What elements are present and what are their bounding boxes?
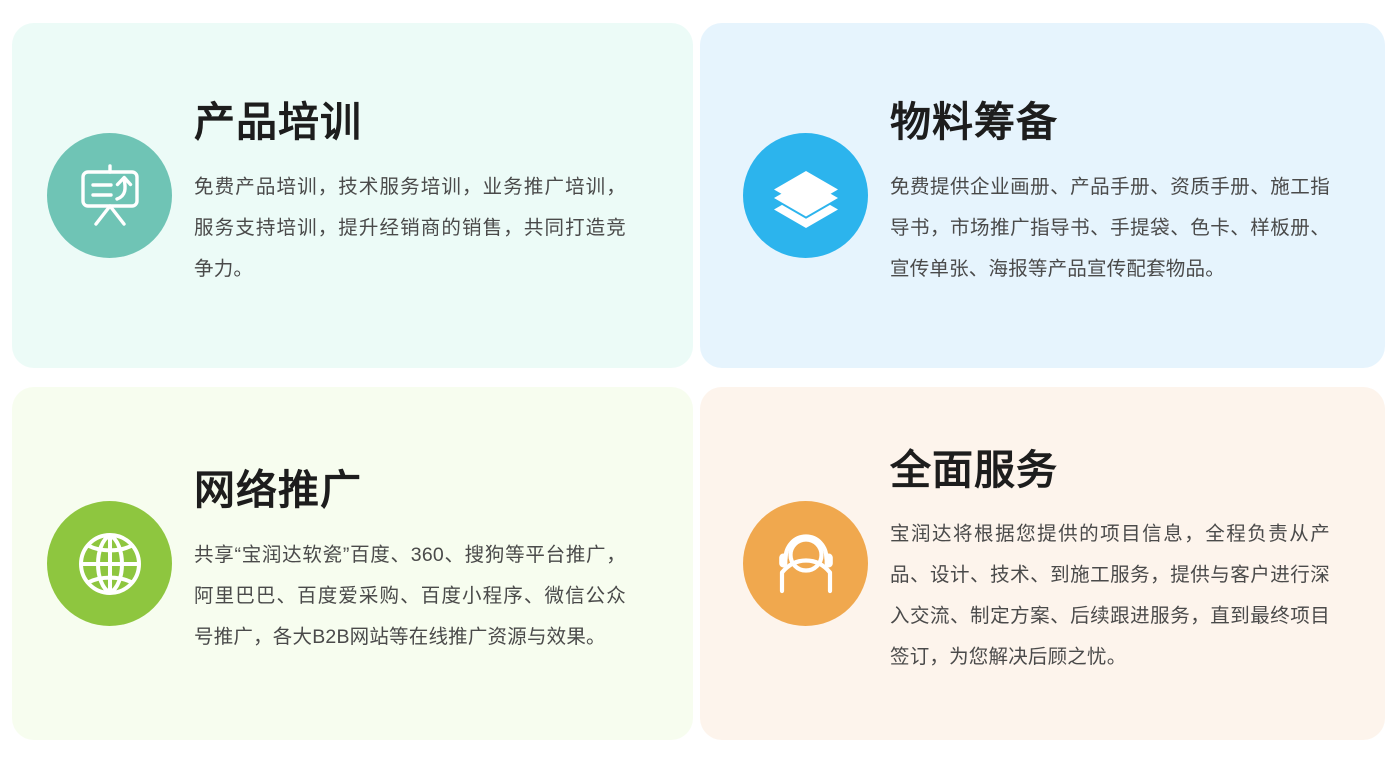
headset-support-icon: [768, 526, 844, 602]
card-title: 物料筹备: [890, 101, 1345, 144]
card-description: 共享“宝润达软瓷”百度、360、搜狗等平台推广，阿里巴巴、百度爱采购、百度小程序…: [194, 535, 626, 658]
icon-circle-product-training: [47, 133, 172, 258]
card-title: 全面服务: [890, 449, 1345, 492]
icon-container: [47, 501, 172, 626]
globe-icon: [72, 526, 148, 602]
icon-container: [743, 133, 868, 258]
feature-card-full-service[interactable]: 全面服务 宝润达将根据您提供的项目信息，全程负责从产品、设计、技术、到施工服务，…: [700, 387, 1385, 740]
feature-card-product-training[interactable]: 产品培训 免费产品培训，技术服务培训，业务推广培训，服务支持培训，提升经销商的销…: [12, 23, 693, 368]
card-description: 宝润达将根据您提供的项目信息，全程负责从产品、设计、技术、到施工服务，提供与客户…: [890, 514, 1330, 678]
icon-circle-full-service: [743, 501, 868, 626]
card-description: 免费提供企业画册、产品手册、资质手册、施工指导书，市场推广指导书、手提袋、色卡、…: [890, 167, 1330, 290]
icon-container: [47, 133, 172, 258]
card-content: 物料筹备 免费提供企业画册、产品手册、资质手册、施工指导书，市场推广指导书、手提…: [868, 101, 1385, 289]
card-title: 网络推广: [194, 469, 653, 512]
feature-card-material-preparation[interactable]: 物料筹备 免费提供企业画册、产品手册、资质手册、施工指导书，市场推广指导书、手提…: [700, 23, 1385, 368]
layers-stack-icon: [768, 158, 844, 234]
card-title: 产品培训: [194, 101, 653, 144]
feature-card-online-promotion[interactable]: 网络推广 共享“宝润达软瓷”百度、360、搜狗等平台推广，阿里巴巴、百度爱采购、…: [12, 387, 693, 740]
card-content: 网络推广 共享“宝润达软瓷”百度、360、搜狗等平台推广，阿里巴巴、百度爱采购、…: [172, 469, 693, 657]
icon-circle-material-preparation: [743, 133, 868, 258]
icon-circle-online-promotion: [47, 501, 172, 626]
icon-container: [743, 501, 868, 626]
feature-card-grid: 产品培训 免费产品培训，技术服务培训，业务推广培训，服务支持培训，提升经销商的销…: [0, 0, 1397, 766]
card-content: 产品培训 免费产品培训，技术服务培训，业务推广培训，服务支持培训，提升经销商的销…: [172, 101, 693, 289]
presentation-board-icon: [74, 160, 146, 232]
card-description: 免费产品培训，技术服务培训，业务推广培训，服务支持培训，提升经销商的销售，共同打…: [194, 167, 626, 290]
card-content: 全面服务 宝润达将根据您提供的项目信息，全程负责从产品、设计、技术、到施工服务，…: [868, 449, 1385, 678]
